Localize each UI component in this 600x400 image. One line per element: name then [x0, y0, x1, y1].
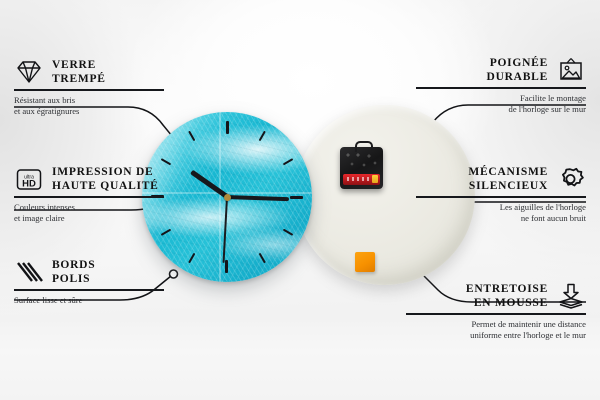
diamond-icon [14, 59, 44, 85]
callout-divider [14, 89, 164, 91]
callout-title-line: MÉCANISME [468, 166, 548, 178]
callout-body: Surface lisse et sûre [14, 295, 164, 306]
foam-spacer [355, 252, 375, 272]
callout-body-line: ne font aucun bruit [521, 213, 586, 223]
clock-mechanism [340, 147, 383, 189]
callout-title-line: IMPRESSION DE [52, 166, 153, 178]
callout-body: Facilite le montage de l'horloge sur le … [416, 93, 586, 115]
callout-title-line: BORDS [52, 259, 95, 271]
callout-header: MÉCANISME SILENCIEUX [416, 165, 586, 193]
callout-header: VERRE TREMPÉ [14, 58, 164, 86]
press-down-layers-icon [556, 283, 586, 309]
ultra-hd-icon: ultra HD [14, 166, 44, 192]
callout-body-line: et image claire [14, 213, 65, 223]
callout-body-line: Couleurs intenses [14, 202, 75, 212]
callout-divider [406, 313, 586, 315]
diagonal-lines-icon [14, 259, 44, 285]
callout-title-line: POIGNÉE [490, 57, 548, 69]
callout-body: Résistant aux bris et aux égratignures [14, 95, 164, 117]
callout-body: Couleurs intenses et image claire [14, 202, 164, 224]
callout-body-line: Résistant aux bris [14, 95, 75, 105]
callout-title-line: VERRE [52, 59, 96, 71]
battery [343, 174, 380, 185]
callout-poignee-durable: POIGNÉE DURABLE Facilite le montage de l… [416, 56, 586, 115]
battery-plus-terminal [372, 175, 378, 183]
callout-title-line: EN MOUSSE [474, 297, 548, 309]
callout-mecanisme-silencieux: MÉCANISME SILENCIEUX Les aiguilles de l'… [416, 165, 586, 224]
clock-center-cap [224, 194, 231, 201]
mechanism-detail [344, 152, 379, 170]
clock-face [142, 112, 312, 282]
callout-header: ENTRETOISE EN MOUSSE [406, 282, 586, 310]
callout-header: BORDS POLIS [14, 258, 164, 286]
callout-bords-polis: BORDS POLIS Surface lisse et sûre [14, 258, 164, 306]
callout-body-line: et aux égratignures [14, 106, 79, 116]
callout-header: ultra HD IMPRESSION DE HAUTE QUALITÉ [14, 165, 164, 193]
callout-divider [416, 196, 586, 198]
ultra-hd-large-text: HD [22, 179, 36, 190]
callout-title-line: ENTRETOISE [466, 283, 548, 295]
mechanism-hanger [355, 141, 373, 152]
callout-body-line: Surface lisse et sûre [14, 295, 83, 305]
gear-icon [556, 166, 586, 192]
callout-title-line: TREMPÉ [52, 73, 106, 85]
callout-title-line: SILENCIEUX [469, 180, 548, 192]
callout-body: Les aiguilles de l'horloge ne font aucun… [416, 202, 586, 224]
callout-title-line: HAUTE QUALITÉ [52, 180, 159, 192]
callout-divider [416, 87, 586, 89]
callout-body-line: uniforme entre l'horloge et le mur [470, 330, 586, 340]
infographic-canvas: VERRE TREMPÉ Résistant aux bris et aux é… [0, 0, 600, 400]
clock-tick [226, 121, 228, 197]
callout-body-line: Facilite le montage [520, 93, 586, 103]
callout-body-line: Permet de maintenir une distance [471, 319, 586, 329]
callout-header: POIGNÉE DURABLE [416, 56, 586, 84]
callout-impression-haute-qualite: ultra HD IMPRESSION DE HAUTE QUALITÉ Cou… [14, 165, 164, 224]
callout-title-line: DURABLE [487, 71, 548, 83]
hanging-frame-icon [556, 57, 586, 83]
callout-verre-trempe: VERRE TREMPÉ Résistant aux bris et aux é… [14, 58, 164, 117]
callout-divider [14, 289, 164, 291]
callout-body: Permet de maintenir une distance uniform… [406, 319, 586, 341]
callout-body-line: Les aiguilles de l'horloge [500, 202, 586, 212]
callout-entretoise-en-mousse: ENTRETOISE EN MOUSSE Permet de maintenir… [406, 282, 586, 341]
callout-divider [14, 196, 164, 198]
callout-body-line: de l'horloge sur le mur [509, 104, 586, 114]
battery-label [347, 177, 371, 181]
callout-title-line: POLIS [52, 273, 90, 285]
